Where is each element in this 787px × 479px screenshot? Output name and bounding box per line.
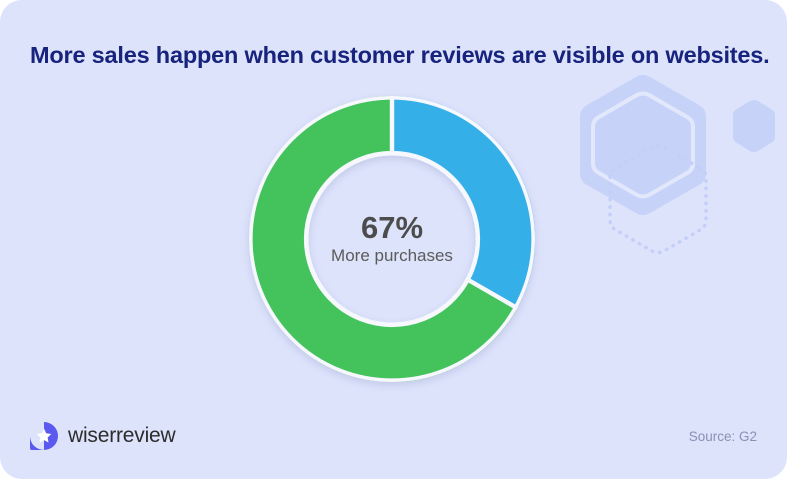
donut-value: 67% [361, 212, 423, 245]
brand-logo: wiserreview [30, 422, 176, 450]
donut-center-text: 67% More purchases [249, 96, 535, 382]
source-label: Source: G2 [689, 429, 757, 444]
brand-name: wiserreview [68, 424, 176, 448]
footer: wiserreview Source: G2 [0, 419, 787, 453]
wiserreview-logo-icon [30, 422, 58, 450]
donut-label: More purchases [331, 247, 453, 266]
hexagon-dotted-icon [610, 146, 706, 253]
donut-chart: 67% More purchases [249, 96, 535, 382]
hexagon-large-icon [580, 75, 706, 215]
page-title: More sales happen when customer reviews … [30, 42, 770, 69]
infographic-card: More sales happen when customer reviews … [0, 0, 787, 479]
hexagon-small-icon [733, 100, 775, 152]
